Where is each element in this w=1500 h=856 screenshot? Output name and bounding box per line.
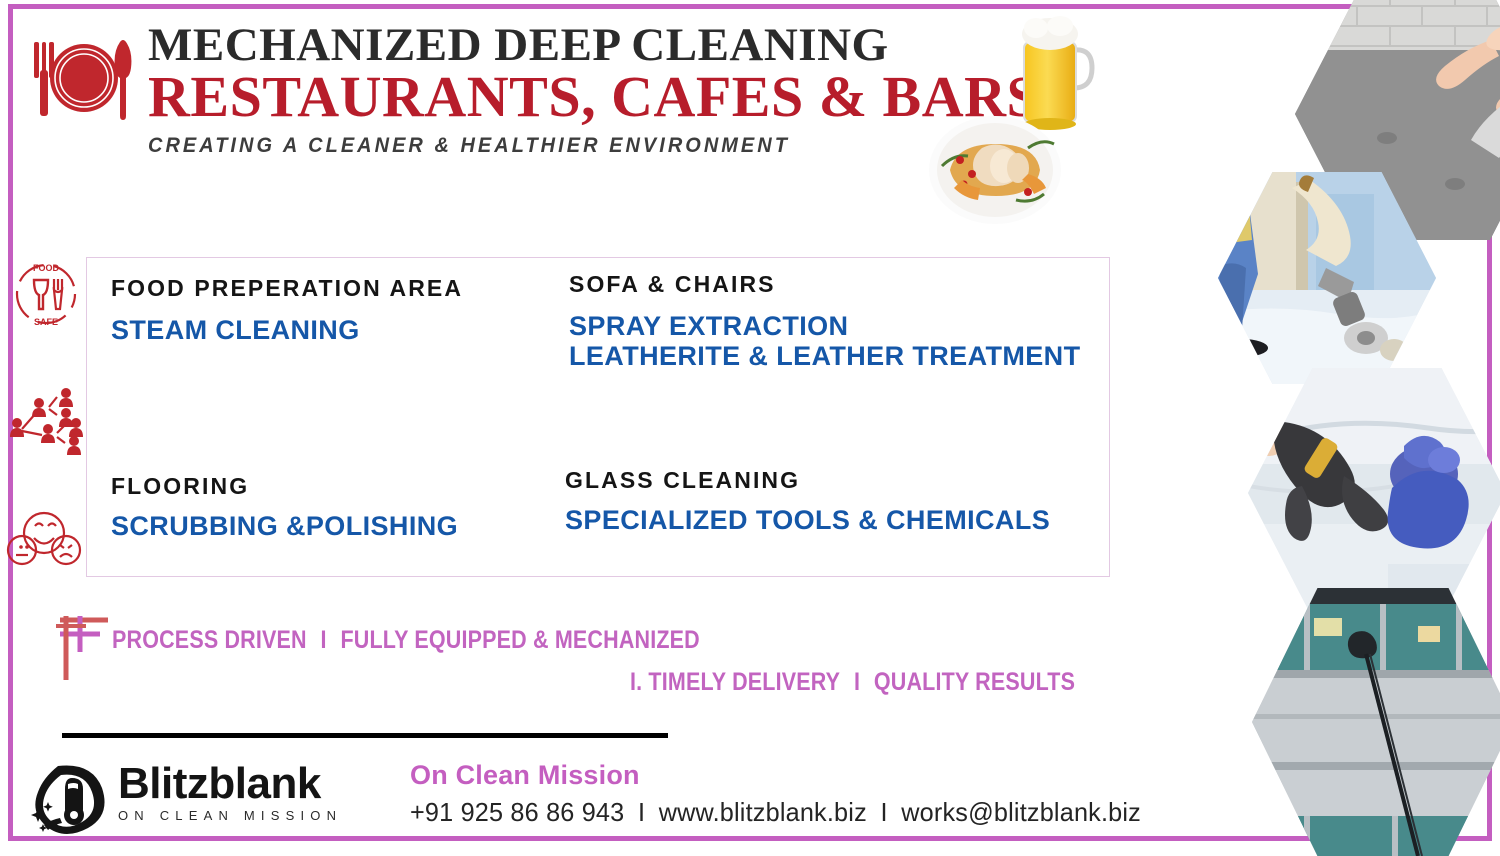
- flyer-page: MECHANIZED DEEP CLEANING RESTAURANTS, CA…: [0, 0, 1500, 845]
- tagline-separator: I: [840, 668, 874, 696]
- brand-logo-text: Blitzblank ON CLEAN MISSION: [118, 762, 342, 823]
- website-link[interactable]: www.blitzblank.biz: [659, 797, 867, 827]
- service-heading: FLOORING: [111, 473, 458, 500]
- service-food-preparation: FOOD PREPERATION AREA STEAM CLEANING: [111, 275, 463, 345]
- header-title-line2: RESTAURANTS, CAFES & BARS: [148, 66, 1048, 128]
- plate-fork-knife-icon: [22, 28, 142, 128]
- service-body: SPRAY EXTRACTION LEATHERITE & LEATHER TR…: [569, 311, 1080, 371]
- smiley-feedback-icon: [4, 500, 86, 570]
- tagline-timely-delivery: I. TIMELY DELIVERY: [630, 668, 840, 696]
- brand-name: Blitzblank: [118, 762, 342, 806]
- tagline-row-2: I. TIMELY DELIVERYIQUALITY RESULTS: [630, 668, 1075, 697]
- service-body: SCRUBBING &POLISHING: [111, 511, 458, 541]
- corner-bracket-icon: [56, 612, 114, 684]
- service-body-line: SCRUBBING &POLISHING: [111, 511, 458, 541]
- food-safe-top-label: FOOD: [33, 263, 59, 273]
- hex-photo-building-facade-window-cleaning: [1252, 588, 1500, 856]
- services-box: FOOD PREPERATION AREA STEAM CLEANING SOF…: [86, 257, 1110, 577]
- service-flooring: FLOORING SCRUBBING &POLISHING: [111, 473, 458, 541]
- service-heading: FOOD PREPERATION AREA: [111, 275, 463, 302]
- frame-border-top: [8, 4, 1492, 9]
- contact-separator: I: [867, 797, 901, 827]
- service-body: STEAM CLEANING: [111, 315, 463, 345]
- roast-plate-image: [920, 108, 1070, 226]
- service-sofa-chairs: SOFA & CHAIRS SPRAY EXTRACTION LEATHERIT…: [569, 271, 1080, 371]
- tagline-row-1: PROCESS DRIVENIFULLY EQUIPPED & MECHANIZ…: [112, 626, 700, 655]
- header-block: MECHANIZED DEEP CLEANING RESTAURANTS, CA…: [148, 20, 1048, 158]
- service-body-line: SPRAY EXTRACTION: [569, 311, 1080, 341]
- hex-photo-glass-squeegee: [1248, 368, 1500, 618]
- tagline-quality-results: QUALITY RESULTS: [874, 668, 1075, 696]
- team-network-icon: [8, 385, 86, 457]
- contact-details: +91 925 86 86 943Iwww.blitzblank.bizIwor…: [410, 797, 1141, 828]
- tagline-fully-equipped: FULLY EQUIPPED & MECHANIZED: [340, 626, 699, 654]
- header-subtitle: CREATING A CLEANER & HEALTHIER ENVIRONME…: [148, 134, 1003, 158]
- brand-tagline: ON CLEAN MISSION: [118, 808, 342, 823]
- service-body-line: SPECIALIZED TOOLS & CHEMICALS: [565, 505, 1050, 535]
- service-body-line: STEAM CLEANING: [111, 315, 463, 345]
- service-heading: GLASS CLEANING: [565, 467, 1050, 494]
- email-link[interactable]: works@blitzblank.biz: [901, 797, 1141, 827]
- food-safe-bottom-label: SAFE: [34, 317, 58, 327]
- service-body: SPECIALIZED TOOLS & CHEMICALS: [565, 505, 1050, 535]
- service-body-line: LEATHERITE & LEATHER TREATMENT: [569, 341, 1080, 371]
- food-safe-badge-icon: FOOD SAFE: [10, 258, 82, 330]
- contact-title: On Clean Mission: [410, 760, 1164, 791]
- footer-divider-rule: [62, 733, 668, 738]
- tagline-process-driven: PROCESS DRIVEN: [112, 626, 307, 654]
- contact-separator: I: [624, 797, 658, 827]
- phone-number[interactable]: +91 925 86 86 943: [410, 797, 624, 827]
- service-glass-cleaning: GLASS CLEANING SPECIALIZED TOOLS & CHEMI…: [565, 467, 1050, 535]
- tagline-separator: I: [307, 626, 341, 654]
- header-title-line1: MECHANIZED DEEP CLEANING: [148, 20, 1048, 70]
- vacuum-cleaner-logo-icon: [28, 762, 110, 836]
- contact-block: On Clean Mission +91 925 86 86 943Iwww.b…: [410, 760, 1164, 828]
- service-heading: SOFA & CHAIRS: [569, 271, 1080, 298]
- frame-border-bottom: [8, 836, 1492, 841]
